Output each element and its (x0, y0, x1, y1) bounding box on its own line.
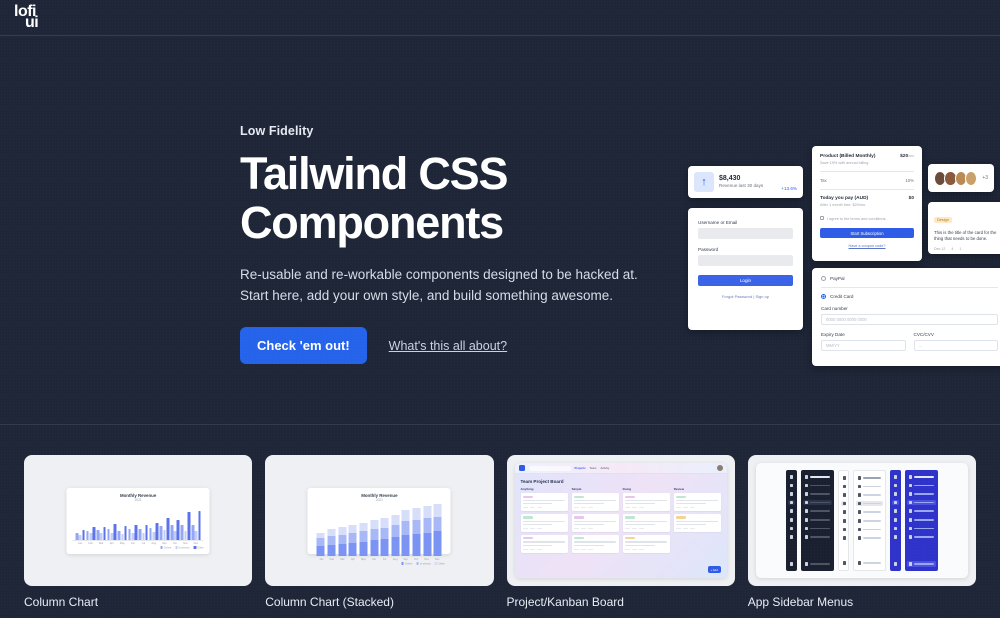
sidebar-app-header (892, 474, 899, 480)
expiry-input[interactable]: MM/YY (821, 340, 906, 351)
sidebar-app-header (841, 475, 846, 481)
sidebar-item-products[interactable] (892, 517, 899, 523)
hero-mockups: ↑ $8,430 Revenue last 30 days +13.6% Use… (670, 136, 1000, 386)
sidebar-item-dashboard[interactable] (892, 483, 899, 489)
card-meta-item (588, 549, 593, 551)
hero-copy: Low Fidelity Tailwind CSS Components Re-… (240, 124, 670, 364)
chart-subtitle: 2021 (73, 498, 204, 502)
products-icon (843, 519, 847, 523)
sidebar-item-label (810, 536, 829, 538)
sidebar-item-search[interactable] (841, 492, 846, 498)
price-period: /mo (908, 154, 914, 158)
card-text-line (625, 545, 654, 546)
kanban-card[interactable] (674, 493, 721, 511)
sidebar-item-messages[interactable] (856, 535, 883, 541)
stat-delta: +13.6% (781, 186, 797, 193)
chart-stack-segment (359, 531, 367, 541)
paypal-label: PayPal (830, 276, 845, 281)
kanban-card[interactable] (572, 535, 619, 553)
sidebar-account-label (863, 562, 880, 564)
sidebar-app-header (788, 474, 795, 480)
password-label: Password (698, 247, 793, 252)
hero-section: Low Fidelity Tailwind CSS Components Re-… (0, 36, 1000, 425)
sidebar-item-search[interactable] (803, 491, 832, 497)
legend-swatch (435, 562, 438, 565)
gallery-item-kanban[interactable]: ProjectsTeamActivity Team Project Board … (507, 455, 735, 609)
sidebar-item-products[interactable] (803, 517, 832, 523)
login-button[interactable]: Login (698, 275, 793, 286)
gallery-label: App Sidebar Menus (748, 595, 976, 609)
insights-icon (909, 501, 913, 505)
sidebar-item-insights[interactable] (856, 501, 883, 507)
card-meta-item (581, 528, 586, 530)
sidebar-item-search[interactable] (892, 491, 899, 497)
card-meta (574, 507, 616, 509)
chart-bar (86, 531, 89, 540)
avatar (965, 171, 977, 186)
chart-bar-group (128, 504, 137, 541)
legend-swatch (160, 546, 163, 549)
chart-bar (89, 533, 92, 540)
docs-icon (805, 509, 809, 513)
sidebar-account-label (810, 563, 829, 565)
app-logo-icon (519, 465, 525, 471)
sidebar-item-search[interactable] (907, 491, 936, 497)
chart-stack-segment (423, 518, 431, 533)
chart-stack-segment (381, 518, 389, 528)
page-title: Tailwind CSS Components (240, 150, 670, 247)
kanban-card[interactable] (521, 535, 568, 553)
chart-stack (328, 529, 336, 556)
gallery-item-sidebars[interactable]: App Sidebar Menus (748, 455, 976, 609)
sidebar-item-label (863, 503, 880, 505)
sidebar-variant[interactable] (853, 470, 886, 571)
products-icon (790, 518, 794, 522)
sidebar-variant[interactable] (905, 470, 938, 571)
title-line-2: Components (240, 197, 503, 248)
thumbnail-sidebars[interactable] (748, 455, 976, 586)
chart-bar (142, 533, 145, 540)
hero-description: Re-usable and re-workable components des… (240, 265, 640, 307)
sidebar-app-header (803, 474, 832, 480)
sidebar-item-products[interactable] (788, 517, 795, 523)
card-text-line (523, 545, 552, 546)
radio-icon[interactable] (821, 276, 826, 281)
settings-icon (805, 527, 809, 531)
mockup-payment-card[interactable]: PayPal Credit Card Card number 0000 0000… (812, 268, 1000, 366)
kanban-card[interactable] (572, 493, 619, 511)
kanban-card[interactable] (521, 514, 568, 532)
card-tag (625, 516, 635, 518)
chart-bar (118, 531, 121, 540)
chart-legend-item: In-person (175, 546, 189, 550)
card-text-line (523, 541, 565, 542)
chart-bar (103, 527, 106, 540)
sidebar-item-messages[interactable] (907, 534, 936, 540)
card-tag (625, 537, 635, 539)
insights-icon (843, 502, 847, 506)
sidebar-item-settings[interactable] (856, 527, 883, 533)
thumbnail-column-chart-stacked[interactable]: Monthly Revenue 2021 JanFebMarAprMayJunJ… (265, 455, 493, 586)
mockup-stat-card[interactable]: ↑ $8,430 Revenue last 30 days +13.6% (688, 166, 803, 198)
terms-label: I agree to the terms and conditions. (827, 217, 887, 221)
gallery-item-column-chart[interactable]: Monthly Revenue 2021 JanFebMarAprMayJunJ… (24, 455, 252, 609)
kanban-card[interactable] (572, 514, 619, 532)
kanban-column: Doing (623, 487, 670, 556)
docs-icon (894, 509, 898, 513)
sidebar-item-label (863, 494, 880, 496)
card-meta-item (523, 528, 528, 530)
checkout-tax-value: 10% (905, 178, 914, 183)
card-meta-item (683, 528, 688, 530)
sidebar-item-products[interactable] (841, 518, 846, 524)
avatar[interactable] (717, 465, 723, 471)
checkbox-icon[interactable] (820, 216, 824, 220)
sidebar-variant[interactable] (890, 470, 901, 571)
card-text-line (574, 500, 616, 501)
hero-eyebrow: Low Fidelity (240, 124, 670, 138)
dashboard-icon (894, 484, 898, 488)
chart-bar-group (107, 504, 116, 541)
card-tag (523, 516, 533, 518)
card-text-line (676, 503, 705, 504)
thumbnail-column-chart[interactable]: Monthly Revenue 2021 JanFebMarAprMayJunJ… (24, 455, 252, 586)
card-text-line (676, 524, 705, 525)
dashboard-icon (805, 484, 809, 488)
kanban-card[interactable] (521, 493, 568, 511)
sidebar-item-label (914, 485, 933, 487)
whats-this-about-link[interactable]: What's this all about? (389, 339, 507, 353)
card-meta-item (676, 528, 681, 530)
sidebar-item-dashboard[interactable] (856, 484, 883, 490)
kanban-nav[interactable]: ProjectsTeamActivity (575, 466, 610, 470)
chart-stack-segment (434, 531, 442, 556)
chart-bar (124, 526, 127, 540)
chart-stack-segment (413, 508, 421, 520)
search-icon (843, 493, 847, 497)
divider (821, 287, 998, 288)
sidebar-item-label (863, 511, 880, 513)
chart-stacked: Monthly Revenue 2021 JanFebMarAprMayJunJ… (308, 488, 451, 554)
start-subscription-button[interactable]: Start Subscription (820, 228, 914, 238)
card-number-input[interactable]: 0000 0000 0000 0000 (821, 314, 998, 325)
card-tag (574, 496, 584, 498)
chart-bar-group (86, 504, 95, 541)
arrow-up-icon: ↑ (694, 172, 714, 192)
card-text-line (625, 521, 667, 522)
chart-stack (359, 523, 367, 557)
sidebar-account-item[interactable] (892, 561, 899, 567)
mockup-checkout-card[interactable]: Product (Billed Monthly) $20/mo Save 19%… (812, 146, 922, 261)
messages-icon (858, 536, 862, 540)
sidebar-account-item[interactable] (803, 561, 832, 567)
chart-bar-group (160, 504, 169, 541)
legend-swatch (175, 546, 178, 549)
chart-stack (402, 510, 410, 556)
kanban-nav-item[interactable]: Projects (575, 466, 586, 470)
kanban-card[interactable] (623, 535, 670, 553)
card-tag (523, 496, 533, 498)
top-nav: lofi ui (0, 0, 1000, 36)
search-icon (909, 492, 913, 496)
radio-selected-icon[interactable] (821, 294, 826, 299)
insights-icon (894, 501, 898, 505)
expiry-label: Expiry Date (821, 332, 906, 337)
sidebar-item-insights[interactable] (788, 500, 795, 506)
chart-bar (174, 531, 177, 540)
chart-bar (114, 524, 117, 540)
card-meta (625, 507, 667, 509)
sidebar-item-label (810, 502, 829, 504)
check-em-out-button[interactable]: Check 'em out! (240, 327, 367, 364)
sidebar-account-item[interactable] (788, 561, 795, 567)
sidebar-item-messages[interactable] (788, 534, 795, 540)
kanban-card[interactable] (623, 514, 670, 532)
chart-stack-segment (370, 520, 378, 529)
chart-stack (391, 515, 399, 556)
chart-stack (434, 504, 442, 557)
chart-stack-segment (391, 537, 399, 556)
add-card-button[interactable]: + Add (708, 566, 721, 573)
cvc-input[interactable]: ... (914, 340, 999, 351)
sidebar-item-settings[interactable] (907, 526, 936, 532)
messages-icon (805, 535, 809, 539)
card-meta-item (676, 507, 681, 509)
card-meta-item (537, 549, 542, 551)
chart-bar (153, 532, 156, 540)
checkout-total-label: Today you pay (AUD) (820, 196, 868, 201)
sidebar-item-insights[interactable] (892, 500, 899, 506)
kanban-card[interactable] (674, 514, 721, 532)
chart-legend-item: Other (194, 546, 204, 550)
app-logo-icon (790, 475, 794, 479)
chart-legend-item: Online (401, 562, 412, 566)
sidebar-item-search[interactable] (856, 492, 883, 498)
thumbnail-kanban[interactable]: ProjectsTeamActivity Team Project Board … (507, 455, 735, 586)
app-logo-icon (894, 475, 898, 479)
card-text-line (523, 524, 552, 525)
chart-subtitle: 2021 (314, 498, 445, 502)
products-icon (894, 518, 898, 522)
card-text-line (574, 524, 603, 525)
chart-bar (97, 530, 100, 540)
chart-bar (93, 527, 96, 540)
chart-bar (128, 529, 131, 540)
sidebar-item-label (863, 486, 880, 488)
sidebar-app-header (907, 474, 936, 480)
chart-bar (149, 528, 152, 540)
sidebar-item-label (810, 519, 829, 521)
task-meta-attachments: 1 (959, 247, 961, 251)
card-meta-item (639, 528, 644, 530)
kanban-topbar: ProjectsTeamActivity (515, 463, 727, 474)
credit-card-label: Credit Card (830, 294, 854, 299)
sidebar-item-label (914, 502, 933, 504)
sidebar-item-messages[interactable] (892, 534, 899, 540)
card-meta-item (537, 507, 542, 509)
chart-stack-segment (328, 536, 336, 545)
divider (820, 171, 914, 172)
sidebar-item-dashboard[interactable] (788, 483, 795, 489)
task-text: This is the title of the card for the th… (934, 230, 1000, 242)
checkout-total-value: $0 (909, 196, 914, 201)
card-meta-item (523, 507, 528, 509)
checkout-tax-label: Tax (820, 178, 827, 183)
logo-line-2: ui (25, 15, 38, 31)
kanban-nav-item[interactable]: Activity (600, 466, 609, 470)
sidebar-item-settings[interactable] (788, 526, 795, 532)
chart-legend: OnlineIn-personOther (73, 545, 204, 550)
sidebar-item-settings[interactable] (841, 527, 846, 533)
chart-bar (195, 531, 198, 540)
checkout-product-price: $20/mo (900, 154, 914, 159)
sidebar-item-docs[interactable] (907, 508, 936, 514)
card-meta-item (523, 549, 528, 551)
chart-legend-item: Other (435, 562, 445, 566)
checkout-product-note: Save 19% with annual billing (820, 161, 914, 165)
card-tag (574, 537, 584, 539)
kanban-nav-item[interactable]: Team (590, 466, 597, 470)
sidebar-item-insights[interactable] (841, 501, 846, 507)
sidebar-item-docs[interactable] (803, 508, 832, 514)
sidebar-item-search[interactable] (788, 491, 795, 497)
card-meta-item (588, 528, 593, 530)
chart-legend: OnlineIn-personOther (314, 561, 445, 566)
card-meta (574, 528, 616, 530)
chart-stack-segment (423, 506, 431, 518)
gallery-item-column-chart-stacked[interactable]: Monthly Revenue 2021 JanFebMarAprMayJunJ… (265, 455, 493, 609)
sidebar-item-docs[interactable] (841, 509, 846, 515)
sidebar-item-docs[interactable] (892, 508, 899, 514)
account-icon (909, 562, 913, 566)
account-icon (790, 562, 794, 566)
sidebar-account-item[interactable] (856, 560, 883, 566)
sidebar-variant[interactable] (838, 470, 849, 571)
divider (820, 189, 914, 190)
search-icon (805, 492, 809, 496)
chart-stack-segment (413, 534, 421, 556)
kanban-column-title: Simple (572, 487, 619, 491)
insights-icon (790, 501, 794, 505)
chart-bar-group (191, 504, 200, 541)
products-icon (909, 518, 913, 522)
mockup-avatar-stack[interactable]: +3 (928, 164, 994, 192)
app-logo-icon (858, 476, 862, 480)
kanban-column-title: Anything (521, 487, 568, 491)
card-tag (625, 496, 635, 498)
sidebar-item-products[interactable] (907, 517, 936, 523)
messages-icon (909, 535, 913, 539)
chart-bar (163, 530, 166, 540)
card-text-line (523, 500, 565, 501)
sidebar-item-products[interactable] (856, 518, 883, 524)
chart-grouped: Monthly Revenue 2021 JanFebMarAprMayJunJ… (67, 488, 210, 554)
coupon-link[interactable]: Have a coupon code? (820, 244, 914, 248)
chart-stack (349, 525, 357, 556)
sidebar-item-label (914, 510, 933, 512)
sidebar-variant[interactable] (786, 470, 797, 571)
insights-icon (805, 501, 809, 505)
card-meta-item (639, 549, 644, 551)
sidebar-item-messages[interactable] (841, 535, 846, 541)
password-input[interactable] (698, 255, 793, 266)
component-gallery: Monthly Revenue 2021 JanFebMarAprMayJunJ… (0, 455, 1000, 609)
card-meta-item (574, 528, 579, 530)
username-input[interactable] (698, 228, 793, 239)
sidebar-app-name (810, 476, 829, 478)
logo[interactable]: lofi ui (14, 3, 48, 33)
paypal-option[interactable]: PayPal (821, 276, 998, 281)
sidebar-item-insights[interactable] (803, 500, 832, 506)
chart-stack-segment (338, 535, 346, 544)
sidebar-item-docs[interactable] (856, 509, 883, 515)
card-text-line (676, 500, 718, 501)
chart-stack-segment (349, 533, 357, 543)
chart-stack-segment (381, 528, 389, 539)
search-input[interactable] (529, 466, 571, 471)
card-tag (676, 516, 686, 518)
chart-stack-segment (370, 540, 378, 556)
kanban-card[interactable] (623, 493, 670, 511)
kanban-column-title: Review (674, 487, 721, 491)
terms-checkbox-row[interactable]: I agree to the terms and conditions. (820, 215, 914, 221)
cvc-label: CVC/CVV (914, 332, 999, 337)
chart-stack-segment (402, 535, 410, 556)
username-label: Username or Email (698, 220, 793, 225)
sidebar-item-insights[interactable] (907, 500, 936, 506)
kanban-column: Simple (572, 487, 619, 556)
sidebar-item-messages[interactable] (803, 534, 832, 540)
chart-stack (317, 533, 325, 557)
chart-stack-segment (391, 525, 399, 537)
card-meta-item (632, 507, 637, 509)
sidebar-item-label (914, 536, 933, 538)
sidebar-variant[interactable] (801, 470, 834, 571)
login-links[interactable]: Forgot Password | Sign up (698, 294, 793, 299)
chart-legend-item: Online (160, 546, 171, 550)
card-meta-item (632, 549, 637, 551)
sidebar-item-docs[interactable] (788, 508, 795, 514)
sidebar-item-dashboard[interactable] (907, 483, 936, 489)
mockup-login-card[interactable]: Username or Email Password Login Forgot … (688, 208, 803, 330)
sidebar-item-dashboard[interactable] (841, 484, 846, 490)
card-text-line (574, 503, 603, 504)
sidebar-account-item[interactable] (907, 561, 936, 567)
card-meta-item (574, 549, 579, 551)
chart-stack-segment (328, 545, 336, 556)
sidebar-item-settings[interactable] (803, 526, 832, 532)
chart-bar (198, 511, 201, 540)
chart-bar (170, 525, 173, 540)
card-meta (676, 528, 718, 530)
chart-stack-segment (349, 525, 357, 533)
card-meta-item (530, 528, 535, 530)
app-logo-icon (909, 475, 913, 479)
stat-label: Revenue last 30 days (719, 183, 763, 189)
sidebar-account-item[interactable] (841, 560, 846, 566)
credit-card-option[interactable]: Credit Card (821, 294, 998, 299)
chart-stack-segment (434, 504, 442, 517)
card-number-label: Card number (821, 306, 998, 311)
card-meta-item (574, 507, 579, 509)
mockup-task-card[interactable]: Design This is the title of the card for… (928, 202, 1000, 254)
chart-stack-segment (391, 515, 399, 525)
sidebar-item-settings[interactable] (892, 526, 899, 532)
price-amount: $20 (900, 154, 908, 159)
card-meta-item (625, 507, 630, 509)
chart-bar (184, 531, 187, 540)
sidebar-item-dashboard[interactable] (803, 483, 832, 489)
